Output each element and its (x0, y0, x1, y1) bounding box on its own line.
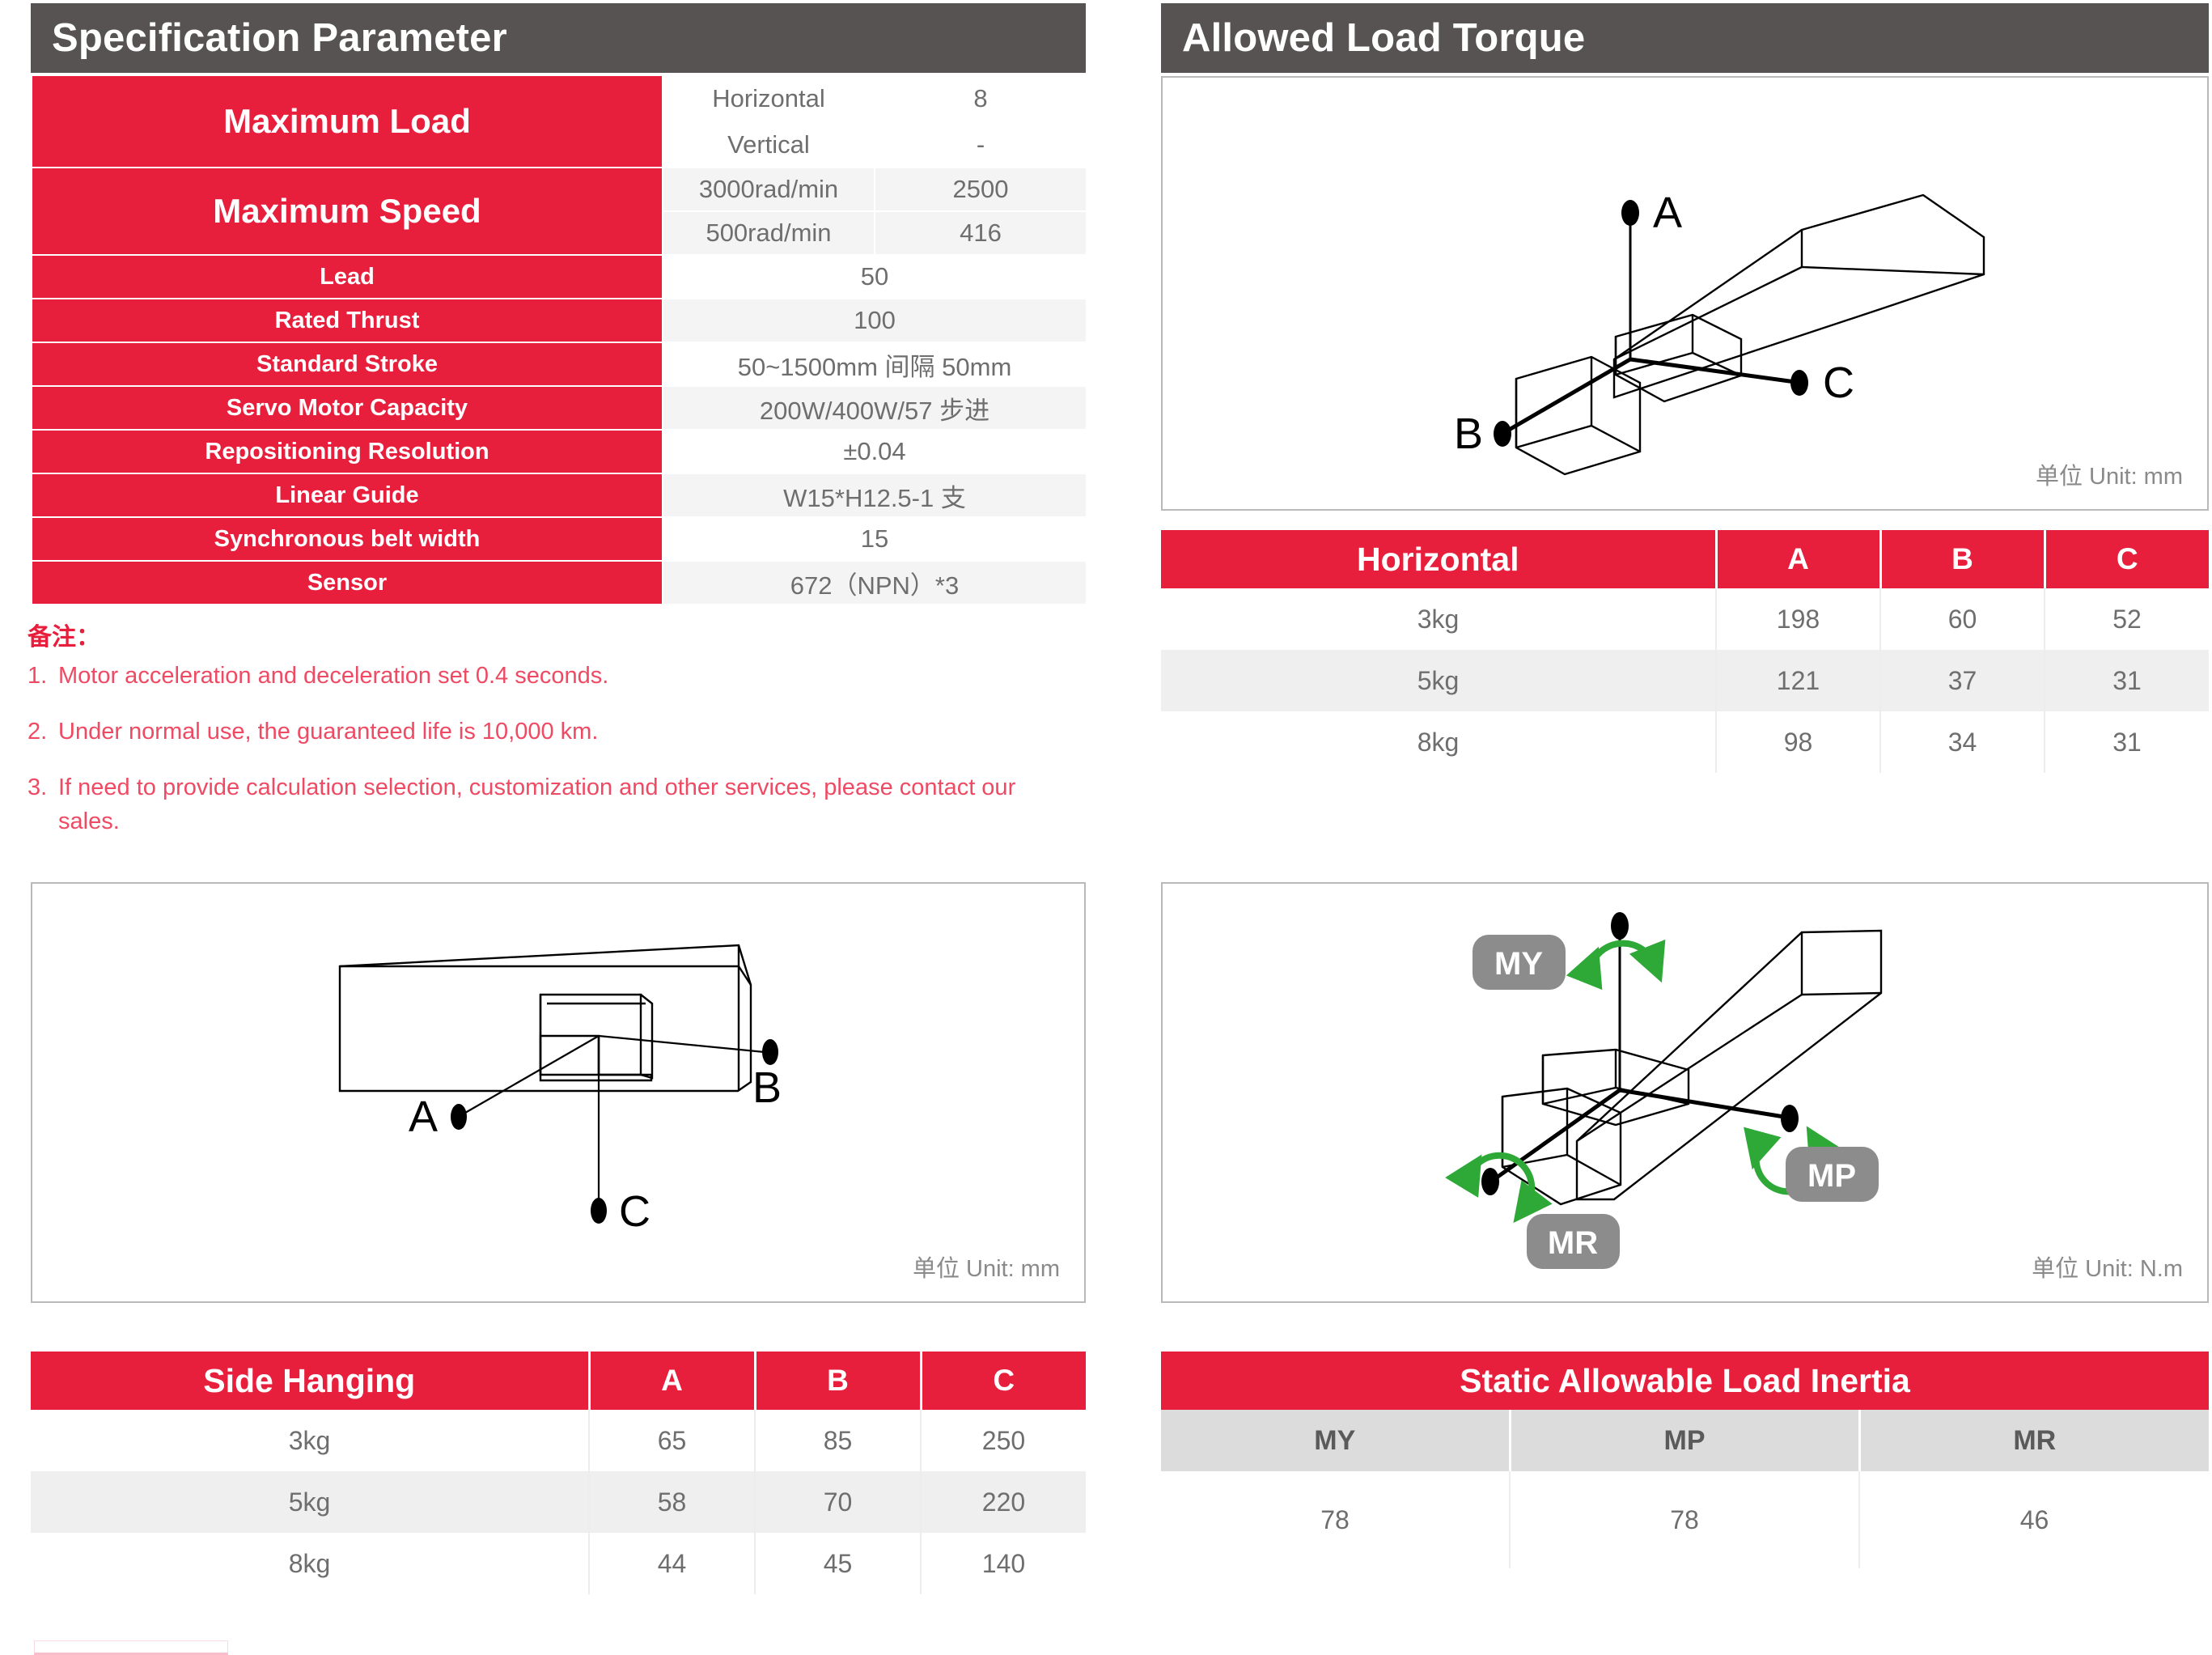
side-hanging-row-a: 44 (589, 1533, 755, 1594)
table-row: Servo Motor Capacity 200W/400W/57 步进 (32, 386, 1087, 430)
horizontal-row-a: 198 (1716, 588, 1880, 650)
spec-value-lead: 50 (663, 255, 1087, 299)
side-hanging-row-a: 65 (589, 1410, 755, 1471)
table-row: 5kg 58 70 220 (31, 1471, 1086, 1533)
spec-label-maximum-speed: Maximum Speed (32, 168, 663, 255)
spec-value-sensor: 672（NPN）*3 (663, 561, 1087, 605)
spec-label-lead: Lead (32, 255, 663, 299)
point-marker-my (1611, 912, 1629, 940)
spec-sheet-page: Specification Parameter Maximum Load Hor… (0, 0, 2212, 1655)
table-header-row: Static Allowable Load Inertia (1161, 1352, 2209, 1410)
load-torque-diagram: A C B (1163, 78, 2207, 509)
horizontal-row-b: 37 (1880, 650, 2045, 711)
axis-label-c: C (1823, 359, 1854, 407)
note-item: 1. Motor acceleration and deceleration s… (28, 659, 1071, 693)
table-row: Synchronous belt width 15 (32, 517, 1087, 561)
moment-diagram-panel: MY MP MR 单位 Unit: N.m (1161, 882, 2209, 1303)
point-marker-b (1494, 421, 1511, 447)
side-hanging-diagram-panel: A B C 单位 Unit: mm (31, 882, 1086, 1303)
inertia-value-mr: 46 (1859, 1471, 2209, 1568)
point-marker-a (1621, 200, 1639, 226)
spec-label-servo-motor-capacity: Servo Motor Capacity (32, 386, 663, 430)
rotation-arrow-my (1591, 944, 1655, 965)
spec-value-linear-guide: W15*H12.5-1 支 (663, 473, 1087, 517)
axis-label-c: C (619, 1187, 650, 1236)
side-hanging-row-load: 8kg (31, 1533, 589, 1594)
table-row: 3kg 65 85 250 (31, 1410, 1086, 1471)
axis-label-a: A (1653, 189, 1682, 237)
spec-label-synchronous-belt-width: Synchronous belt width (32, 517, 663, 561)
horizontal-table-header-a: A (1716, 530, 1880, 588)
specification-parameter-table: Maximum Load Horizontal 8 Vertical - Max… (31, 74, 1087, 605)
unit-label-mm-side-hanging: 单位 Unit: mm (913, 1250, 1060, 1284)
static-allowable-load-inertia-table: Static Allowable Load Inertia MY MP MR 7… (1161, 1352, 2209, 1568)
spec-subrow-vertical: Vertical (663, 121, 875, 168)
side-hanging-diagram: A B C (32, 884, 1084, 1301)
side-hanging-table-header-c: C (921, 1352, 1086, 1410)
notes-block: 备注： 1. Motor acceleration and decelerati… (28, 617, 1071, 860)
table-row: Lead 50 (32, 255, 1087, 299)
side-hanging-row-b: 70 (755, 1471, 921, 1533)
side-hanging-row-b: 45 (755, 1533, 921, 1594)
horizontal-table-header-b: B (1880, 530, 2045, 588)
table-row: Rated Thrust 100 (32, 299, 1087, 342)
spec-value-rated-thrust: 100 (663, 299, 1087, 342)
note-item: 3. If need to provide calculation select… (28, 770, 1071, 838)
spec-value-standard-stroke: 50~1500mm 间隔 50mm (663, 342, 1087, 386)
horizontal-row-load: 8kg (1161, 711, 1716, 773)
horizontal-load-table: Horizontal A B C 3kg 198 60 52 5kg 121 3… (1161, 530, 2209, 773)
point-marker-c (1790, 370, 1808, 396)
inertia-header-mp: MP (1510, 1410, 1859, 1471)
side-hanging-table: Side Hanging A B C 3kg 65 85 250 5kg 58 … (31, 1352, 1086, 1594)
table-header-row: Horizontal A B C (1161, 530, 2209, 588)
note-number: 2. (28, 715, 58, 749)
table-row: 3kg 198 60 52 (1161, 588, 2209, 650)
spec-value-synchronous-belt-width: 15 (663, 517, 1087, 561)
point-marker-a (451, 1104, 467, 1130)
inertia-table-title: Static Allowable Load Inertia (1161, 1352, 2209, 1410)
side-hanging-row-b: 85 (755, 1410, 921, 1471)
table-row: Sensor 672（NPN）*3 (32, 561, 1087, 605)
horizontal-row-c: 31 (2045, 650, 2209, 711)
side-hanging-table-header-b: B (755, 1352, 921, 1410)
svg-text:MP: MP (1807, 1158, 1856, 1194)
side-hanging-row-a: 58 (589, 1471, 755, 1533)
moment-badge-mp: MP (1786, 1147, 1879, 1202)
side-hanging-row-c: 220 (921, 1471, 1086, 1533)
torque-panel-title: Allowed Load Torque (1182, 15, 1585, 61)
point-marker-mr (1481, 1168, 1499, 1195)
table-row: Repositioning Resolution ±0.04 (32, 430, 1087, 473)
axis-label-b: B (1454, 410, 1483, 458)
horizontal-row-load: 5kg (1161, 650, 1716, 711)
spec-subrow-horizontal: Horizontal (663, 75, 875, 121)
svg-text:MR: MR (1548, 1225, 1598, 1261)
spec-value-vertical: - (875, 121, 1087, 168)
spec-label-sensor: Sensor (32, 561, 663, 605)
horizontal-table-header-c: C (2045, 530, 2209, 588)
table-row: 8kg 44 45 140 (31, 1533, 1086, 1594)
side-hanging-row-c: 140 (921, 1533, 1086, 1594)
table-subheader-row: MY MP MR (1161, 1410, 2209, 1471)
note-number: 1. (28, 659, 58, 693)
side-hanging-table-header-a: A (589, 1352, 755, 1410)
spec-value-3000rad: 2500 (875, 168, 1087, 211)
horizontal-row-b: 34 (1880, 711, 2045, 773)
table-row: 78 78 46 (1161, 1471, 2209, 1568)
horizontal-row-a: 121 (1716, 650, 1880, 711)
page-bottom-edge-sliver (34, 1640, 228, 1655)
spec-value-horizontal: 8 (875, 75, 1087, 121)
horizontal-row-c: 31 (2045, 711, 2209, 773)
svg-text:MY: MY (1494, 946, 1543, 982)
inertia-header-my: MY (1161, 1410, 1510, 1471)
spec-subrow-3000rad: 3000rad/min (663, 168, 875, 211)
point-marker-b (762, 1039, 778, 1065)
horizontal-row-a: 98 (1716, 711, 1880, 773)
allowable-moment-diagram: MY MP MR (1163, 884, 2207, 1301)
table-header-row: Side Hanging A B C (31, 1352, 1086, 1410)
side-hanging-table-header-title: Side Hanging (31, 1352, 589, 1410)
side-hanging-row-load: 5kg (31, 1471, 589, 1533)
spec-label-rated-thrust: Rated Thrust (32, 299, 663, 342)
horizontal-row-c: 52 (2045, 588, 2209, 650)
axis-label-b: B (752, 1063, 782, 1112)
point-marker-c (591, 1198, 607, 1224)
torque-panel-title-bar: Allowed Load Torque (1161, 3, 2209, 73)
spec-label-maximum-load: Maximum Load (32, 75, 663, 168)
table-row: 8kg 98 34 31 (1161, 711, 2209, 773)
spec-panel-title-bar: Specification Parameter (31, 3, 1086, 73)
side-hanging-row-c: 250 (921, 1410, 1086, 1471)
spec-subrow-500rad: 500rad/min (663, 211, 875, 255)
moment-badge-my: MY (1473, 935, 1566, 990)
moment-badge-mr: MR (1527, 1214, 1620, 1269)
inertia-value-my: 78 (1161, 1471, 1510, 1568)
notes-heading: 备注： (28, 617, 1071, 652)
table-row: Maximum Speed 3000rad/min 2500 (32, 168, 1087, 211)
horizontal-row-load: 3kg (1161, 588, 1716, 650)
table-row: Linear Guide W15*H12.5-1 支 (32, 473, 1087, 517)
spec-label-linear-guide: Linear Guide (32, 473, 663, 517)
note-text: Under normal use, the guaranteed life is… (58, 715, 1071, 749)
side-hanging-row-load: 3kg (31, 1410, 589, 1471)
inertia-header-mr: MR (1859, 1410, 2209, 1471)
spec-value-repositioning-resolution: ±0.04 (663, 430, 1087, 473)
allowed-load-torque-diagram-panel: A C B 单位 Unit: mm (1161, 76, 2209, 511)
horizontal-table-header-title: Horizontal (1161, 530, 1716, 588)
horizontal-row-b: 60 (1880, 588, 2045, 650)
unit-label-nm-moment: 单位 Unit: N.m (2032, 1250, 2183, 1284)
spec-value-500rad: 416 (875, 211, 1087, 255)
spec-value-servo-motor-capacity: 200W/400W/57 步进 (663, 386, 1087, 430)
inertia-value-mp: 78 (1510, 1471, 1859, 1568)
spec-label-repositioning-resolution: Repositioning Resolution (32, 430, 663, 473)
unit-label-mm-torque: 单位 Unit: mm (2036, 457, 2183, 491)
note-number: 3. (28, 770, 58, 838)
note-text: Motor acceleration and deceleration set … (58, 659, 1071, 693)
note-item: 2. Under normal use, the guaranteed life… (28, 715, 1071, 749)
table-row: Standard Stroke 50~1500mm 间隔 50mm (32, 342, 1087, 386)
spec-panel-title: Specification Parameter (52, 15, 507, 61)
spec-label-standard-stroke: Standard Stroke (32, 342, 663, 386)
axis-label-a: A (409, 1093, 438, 1141)
note-text: If need to provide calculation selection… (58, 770, 1071, 838)
table-row: Maximum Load Horizontal 8 (32, 75, 1087, 121)
point-marker-mp (1781, 1105, 1799, 1132)
table-row: 5kg 121 37 31 (1161, 650, 2209, 711)
